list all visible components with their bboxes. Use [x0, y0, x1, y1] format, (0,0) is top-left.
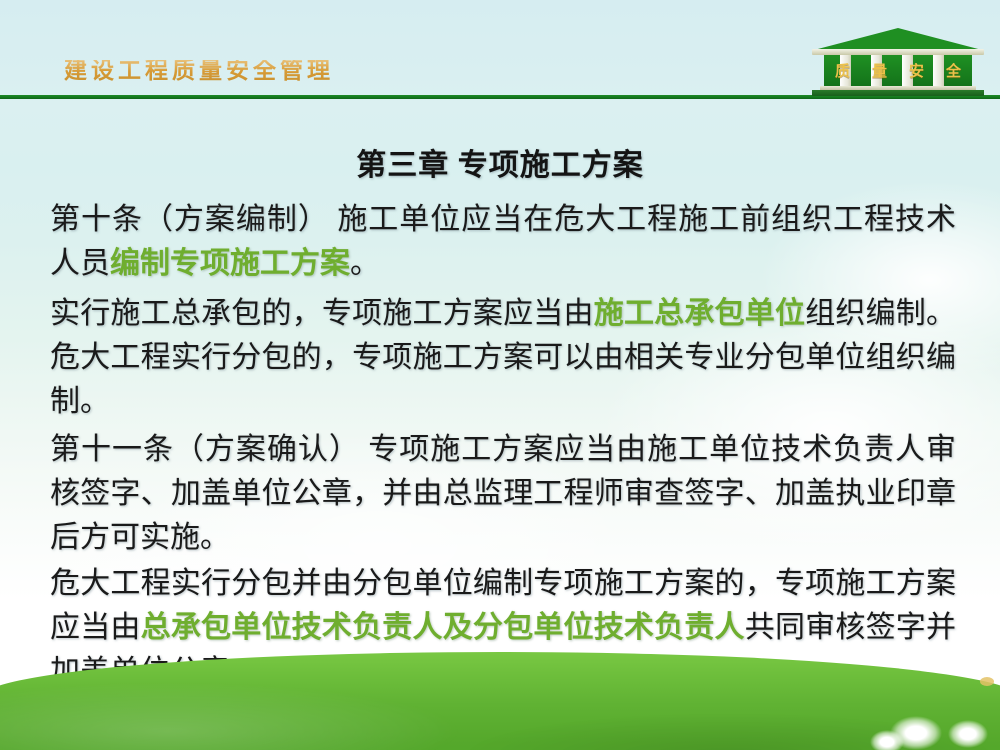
emblem-char: 质 — [835, 61, 850, 81]
quality-safety-emblem-icon: 质 量 安 全 — [808, 28, 988, 96]
highlighted-text-run: 施工总承包单位 — [594, 297, 805, 330]
paragraph-article-11: 第十一条（方案确认） 专项施工方案应当由施工单位技术负责人审核签字、加盖单位公章… — [50, 428, 956, 560]
presentation-slide: 建设工程质量安全管理 质 量 安 全 第三章 专项施工方案 第十条（方案编制） … — [0, 0, 1000, 750]
emblem-label: 质 量 安 全 — [824, 61, 972, 81]
flower-decoration — [948, 720, 988, 748]
emblem-char: 安 — [909, 61, 924, 81]
grass-field-decoration — [0, 630, 1000, 750]
emblem-char: 全 — [946, 61, 961, 81]
paragraph-general-contractor: 实行施工总承包的，专项施工方案应当由施工总承包单位组织编制。危大工程实行分包的，… — [50, 292, 956, 424]
slide-header: 建设工程质量安全管理 质 量 安 全 — [0, 0, 1000, 100]
header-title: 建设工程质量安全管理 — [64, 60, 334, 83]
light-speck-decoration — [980, 677, 994, 686]
text-run: 实行施工总承包的，专项施工方案应当由 — [50, 297, 594, 330]
text-run: 第十一条（方案确认） 专项施工方案应当由施工单位技术负责人审核签字、加盖单位公章… — [50, 433, 956, 554]
slide-title: 第三章 专项施工方案 — [0, 140, 1000, 184]
emblem-roof-icon — [814, 28, 982, 50]
emblem-char: 量 — [872, 61, 887, 81]
grass-shading — [0, 652, 1000, 750]
highlighted-text-run: 编制专项施工方案 — [110, 247, 350, 280]
paragraph-article-10: 第十条（方案编制） 施工单位应当在危大工程施工前组织工程技术人员编制专项施工方案… — [50, 198, 956, 286]
emblem-base-icon — [812, 90, 984, 96]
text-run: 。 — [350, 247, 380, 280]
flower-decoration — [890, 716, 942, 750]
